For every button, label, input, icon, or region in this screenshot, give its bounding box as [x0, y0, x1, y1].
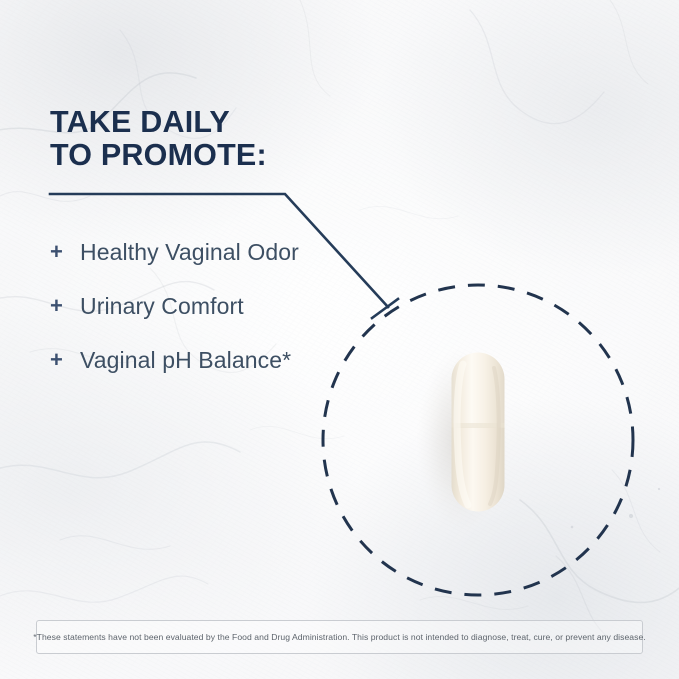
product-benefits-graphic: TAKE DAILY TO PROMOTE: + Healthy Vaginal…: [0, 0, 679, 679]
disclaimer-text: *These statements have not been evaluate…: [25, 632, 654, 643]
disclaimer-box: *These statements have not been evaluate…: [36, 620, 643, 654]
product-callout: [0, 0, 679, 679]
